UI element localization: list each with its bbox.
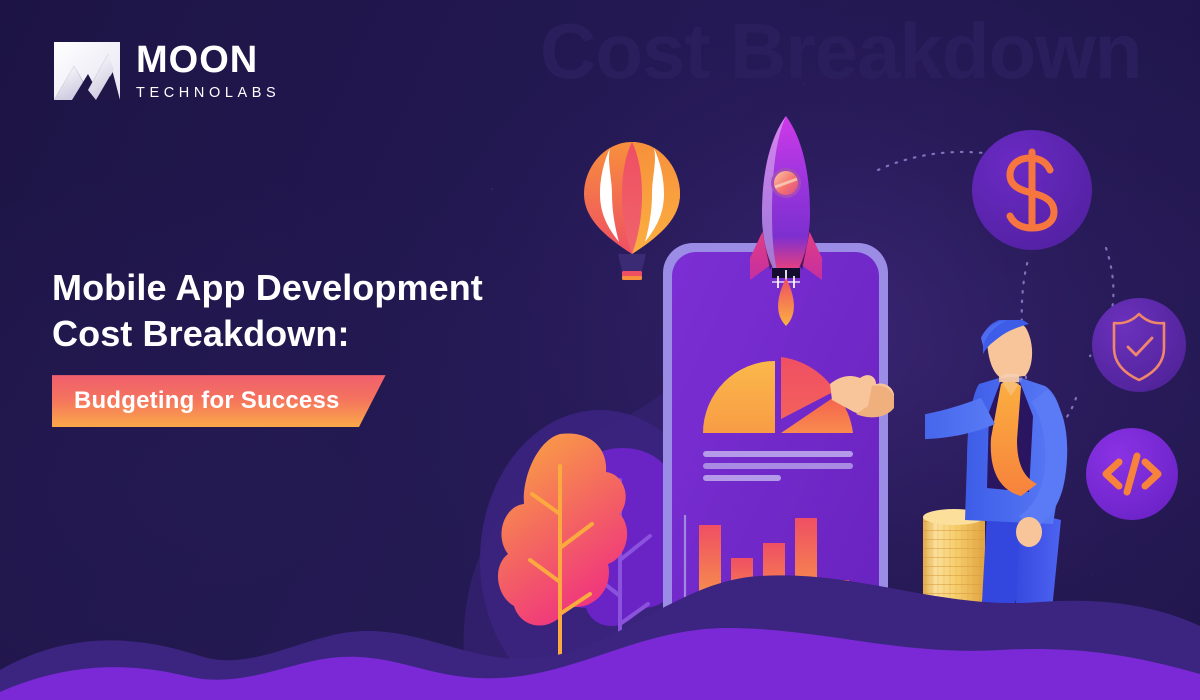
shield-check-icon <box>1092 298 1186 392</box>
headline-block: Mobile App Development Cost Breakdown: B… <box>52 265 612 427</box>
dollar-icon <box>972 130 1092 250</box>
shield-check-icon-circle[interactable] <box>1092 298 1186 392</box>
rocket-icon <box>716 110 856 330</box>
banner-canvas: Cost Breakdown <box>0 0 1200 700</box>
code-icon <box>1086 428 1178 520</box>
status-badge: Budgeting for Success <box>52 375 386 427</box>
headline-line-2: Cost Breakdown: <box>52 311 612 357</box>
headline-line-1: Mobile App Development <box>52 265 612 311</box>
mountain-m-icon <box>52 40 122 102</box>
logo-primary-text: MOON <box>136 41 280 79</box>
badge-wrapper: Budgeting for Success <box>52 375 386 427</box>
pointing-hand-icon <box>828 366 898 426</box>
bottom-hills <box>0 460 1200 700</box>
logo-secondary-text: TECHNOLABS <box>136 86 280 101</box>
code-icon-circle[interactable] <box>1086 428 1178 520</box>
moon-technolabs-logo[interactable]: MOON TECHNOLABS <box>52 40 280 102</box>
dollar-icon-circle[interactable] <box>972 130 1092 250</box>
